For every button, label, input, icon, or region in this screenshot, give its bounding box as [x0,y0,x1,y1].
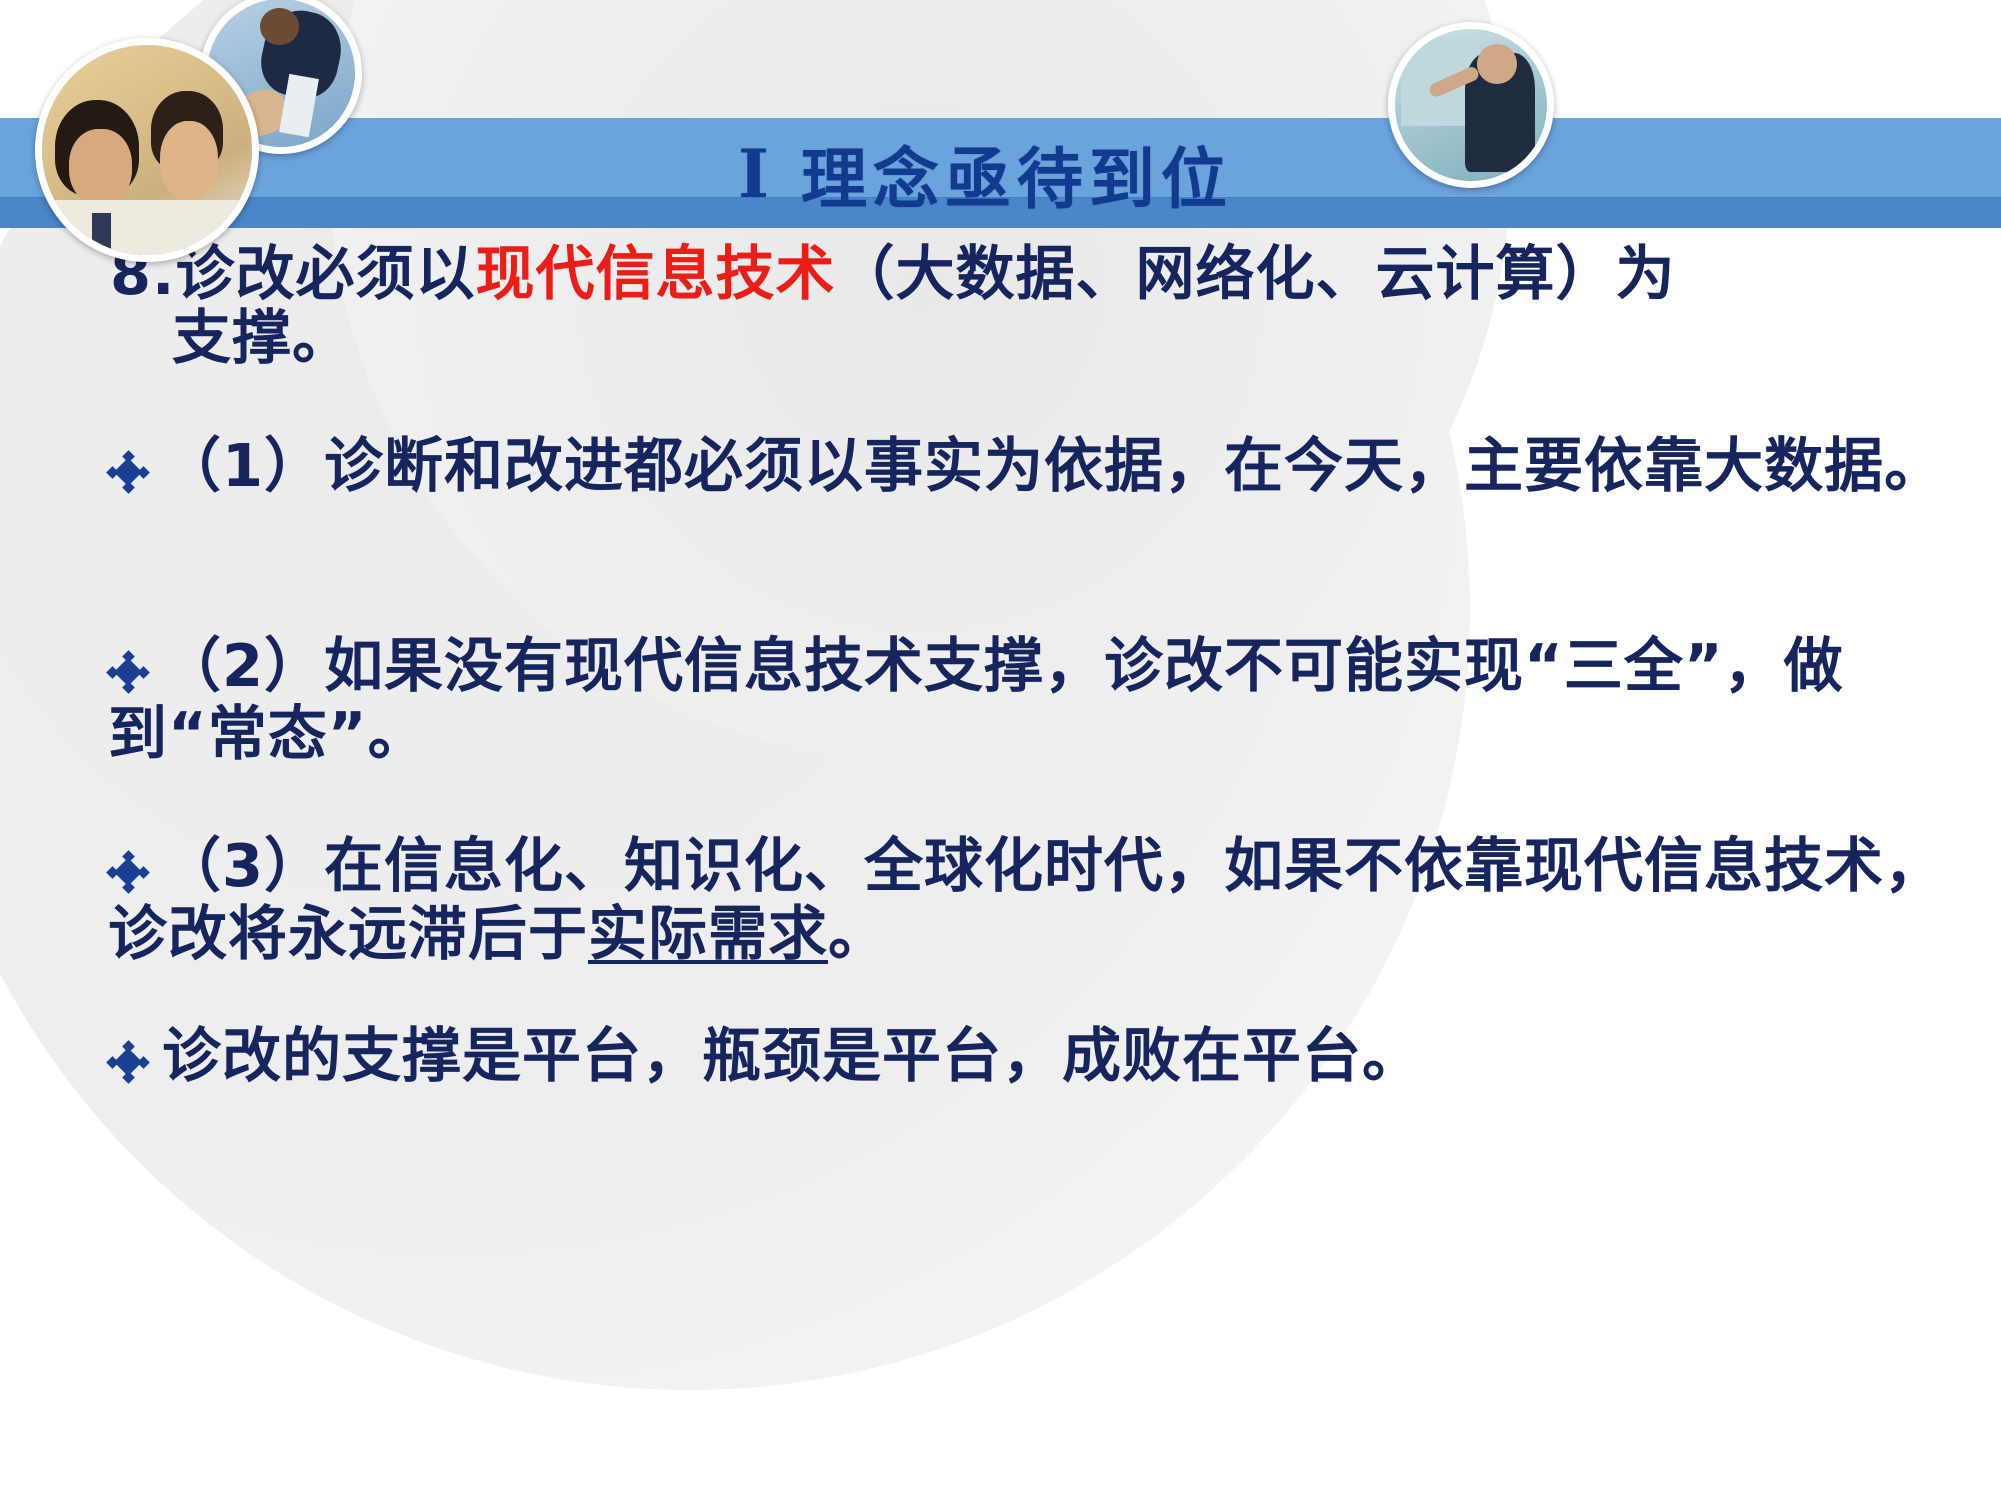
photo-circle-presenter [1388,22,1554,188]
bullet-1-seg-1: （1）诊断和改进都必须以事实为依据，在今天，主要依靠 [162,431,1704,500]
item8-highlight-red: 现代信息技术 [475,239,835,308]
bullet-4-seg-1: 诊改的支撑是平台，瓶颈是平台，成败在平台。 [162,1021,1422,1090]
diamond-bullet-icon [108,852,148,892]
slide-canvas: Ⅰ 理念亟待到位 8.诊改必须以现代信息技术（大数据、网络化、云计算）为 支撑。… [0,0,2001,1501]
bullet-item-3: （3）在信息化、知识化、全球化时代，如果不依靠现代信息技术，诊改将永远滞后于实际… [108,832,1968,969]
bullet-2-seg-5: ”。 [328,699,428,768]
bullet-2-seg-1: （2）如果没有现代信息技术支撑，诊改不可能实现“ [162,631,1564,700]
bullet-item-1: （1）诊断和改进都必须以事实为依据，在今天，主要依靠大数据。 [108,432,1968,500]
bullet-2-seg-4: 常态 [208,699,328,768]
item8-seg3: （大数据、网络化、云计算）为 [836,239,1676,308]
item8-seg4: 支撑。 [110,306,1940,370]
slide-title-text: 理念亟待到位 [801,126,1233,222]
bullet-item-2: （2）如果没有现代信息技术支撑，诊改不可能实现“三全”，做到“常态”。 [108,632,1968,769]
numbered-item-8: 8.诊改必须以现代信息技术（大数据、网络化、云计算）为 支撑。 [110,242,1940,369]
bullet-2-seg-2: 三全 [1564,631,1684,700]
photo-circle-two-men-desk [35,38,259,262]
slide-title-numeral: Ⅰ [738,135,775,213]
diamond-bullet-icon [108,452,148,492]
bullet-1-seg-3: 。 [1884,431,1944,500]
bullet-3-seg-3: 。 [828,899,888,968]
diamond-bullet-icon [108,1042,148,1082]
bullet-item-4: 诊改的支撑是平台，瓶颈是平台，成败在平台。 [108,1022,1968,1090]
diamond-bullet-icon [108,652,148,692]
bullet-3-seg-1: （3）在信息化、知识化、全球化时代，如果不依靠现代信息技术，诊改将永远滞后于 [108,831,1944,968]
bullet-3-seg-2: 实际需求 [588,899,828,968]
bullet-1-seg-2: 大数据 [1704,431,1884,500]
